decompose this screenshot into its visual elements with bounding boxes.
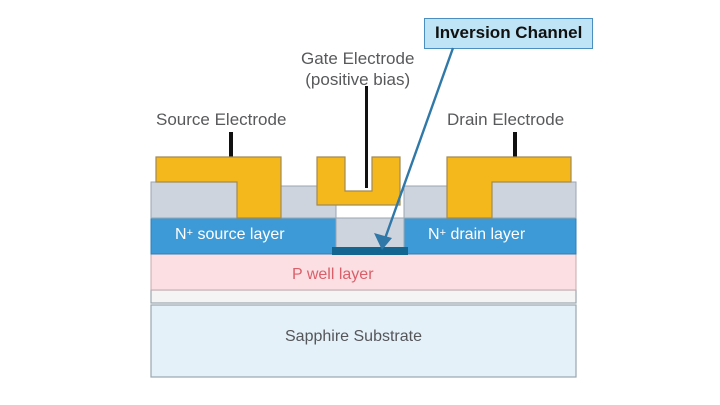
n-plus-drain-layer-label: N+ drain layer	[428, 226, 525, 244]
n-drain-prefix: N	[428, 226, 440, 243]
sapphire-substrate-label: Sapphire Substrate	[285, 328, 422, 346]
gate-trench-region	[336, 218, 404, 252]
n-source-main: source layer	[193, 226, 285, 243]
n-source-prefix: N	[175, 226, 187, 243]
inversion-channel-strip	[332, 247, 408, 255]
n-drain-main: drain layer	[446, 226, 525, 243]
gate-electrode-metal	[317, 157, 400, 205]
p-well-layer-label: P well layer	[292, 266, 374, 284]
interface-gap-strip	[151, 290, 576, 303]
diagram-canvas: Source Electrode Drain Electrode Gate El…	[0, 0, 720, 405]
n-plus-source-layer-label: N+ source layer	[175, 226, 285, 244]
